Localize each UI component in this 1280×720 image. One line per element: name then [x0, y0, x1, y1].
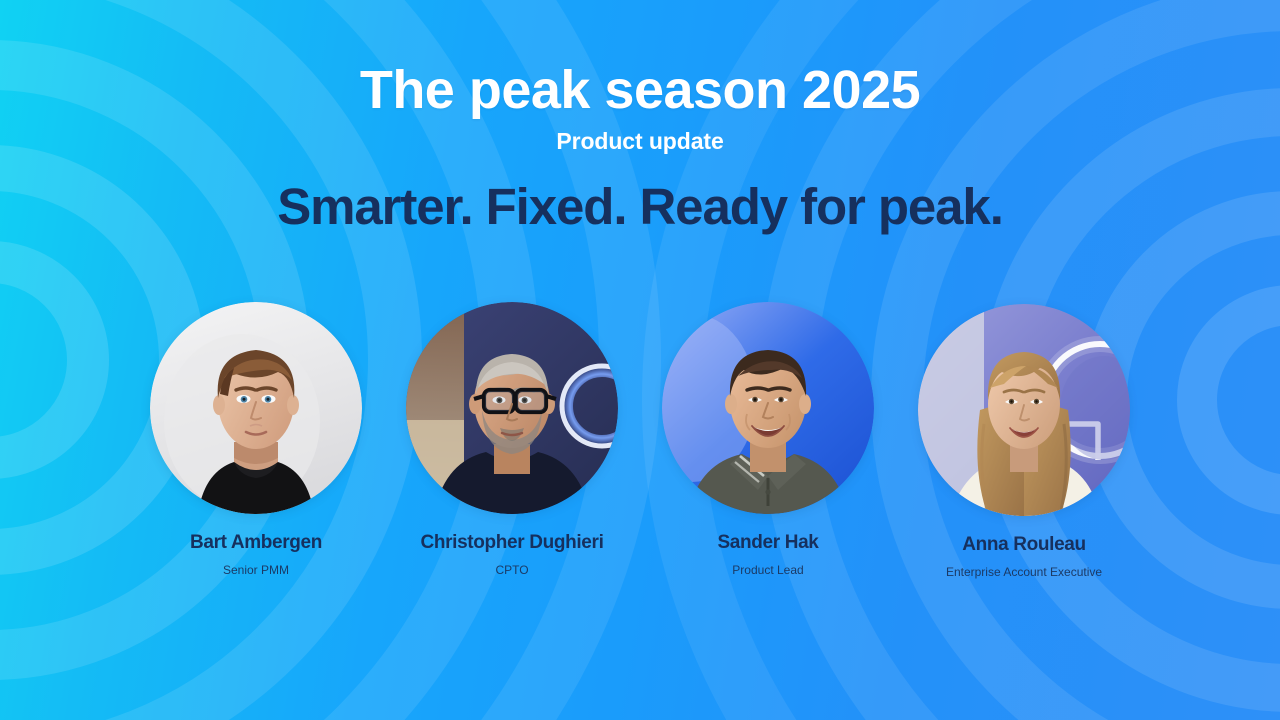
- page-headline: Smarter. Fixed. Ready for peak.: [277, 179, 1003, 235]
- speaker-name: Anna Rouleau: [962, 534, 1086, 556]
- speaker-name: Christopher Dughieri: [420, 532, 603, 554]
- speaker-card-sander-hak: Sander Hak Product Lead: [662, 302, 874, 577]
- portrait-anna-rouleau-image: [918, 304, 1130, 516]
- speaker-name: Bart Ambergen: [190, 532, 322, 554]
- speaker-name: Sander Hak: [717, 532, 818, 554]
- speaker-card-christopher-dughieri: Christopher Dughieri CPTO: [406, 302, 618, 577]
- speaker-role: Product Lead: [732, 563, 803, 577]
- speaker-role: CPTO: [495, 563, 528, 577]
- avatar-sander-hak: [662, 302, 874, 514]
- portrait-sander-hak-image: [662, 302, 874, 514]
- avatar-christopher-dughieri: [406, 302, 618, 514]
- speaker-role: Enterprise Account Executive: [946, 565, 1102, 579]
- speaker-card-anna-rouleau: Anna Rouleau Enterprise Account Executiv…: [918, 304, 1130, 579]
- avatar-bart-ambergen: [150, 302, 362, 514]
- speaker-card-bart-ambergen: Bart Ambergen Senior PMM: [150, 302, 362, 577]
- page-title: The peak season 2025: [360, 62, 920, 119]
- page-subtitle: Product update: [556, 128, 723, 155]
- portrait-bart-ambergen-image: [150, 302, 362, 514]
- portrait-christopher-dughieri-image: [406, 302, 618, 514]
- speaker-list: Bart Ambergen Senior PMM: [0, 302, 1280, 577]
- avatar-anna-rouleau: [918, 304, 1130, 516]
- speaker-role: Senior PMM: [223, 563, 289, 577]
